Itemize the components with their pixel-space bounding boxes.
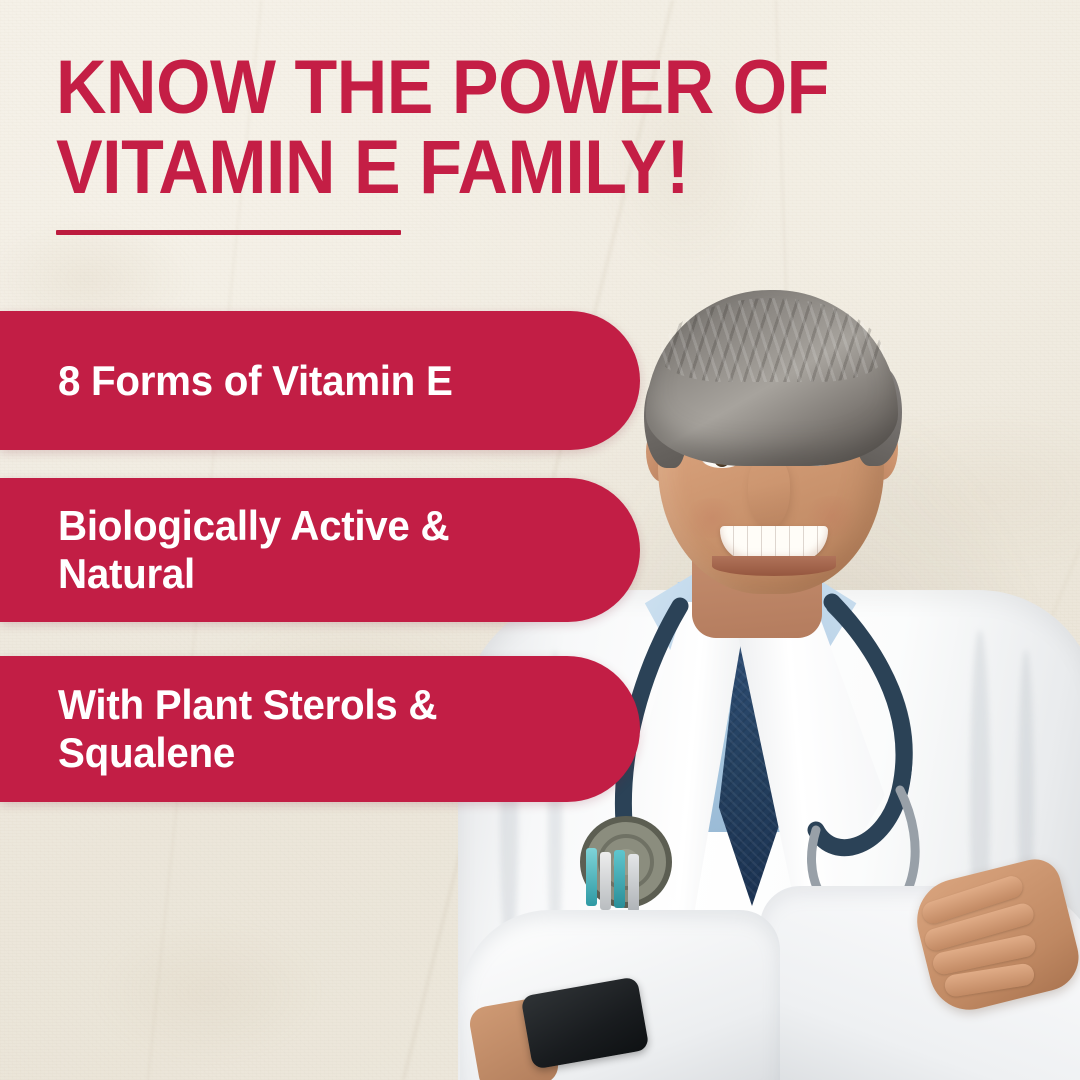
- pen: [614, 850, 625, 908]
- benefit-pill-3-label: With Plant Sterols & Squalene: [58, 681, 437, 777]
- pen: [628, 854, 639, 912]
- benefit-pill-1-label: 8 Forms of Vitamin E: [58, 357, 453, 405]
- headline-line-1: KNOW THE POWER OF: [56, 50, 810, 126]
- pen: [586, 848, 597, 906]
- promo-poster: KNOW THE POWER OF VITAMIN E FAMILY! 8 Fo…: [0, 0, 1080, 1080]
- benefit-pill-1: 8 Forms of Vitamin E: [0, 311, 640, 450]
- headline-line-2: VITAMIN E FAMILY!: [56, 130, 810, 206]
- pocket-pens: [586, 848, 646, 910]
- benefit-pill-2-label: Biologically Active & Natural: [58, 502, 449, 598]
- benefit-pill-2: Biologically Active & Natural: [0, 478, 640, 622]
- benefit-pill-3: With Plant Sterols & Squalene: [0, 656, 640, 802]
- pen: [600, 852, 611, 910]
- page-title: KNOW THE POWER OF VITAMIN E FAMILY!: [56, 50, 876, 206]
- title-underline-rule: [56, 230, 401, 235]
